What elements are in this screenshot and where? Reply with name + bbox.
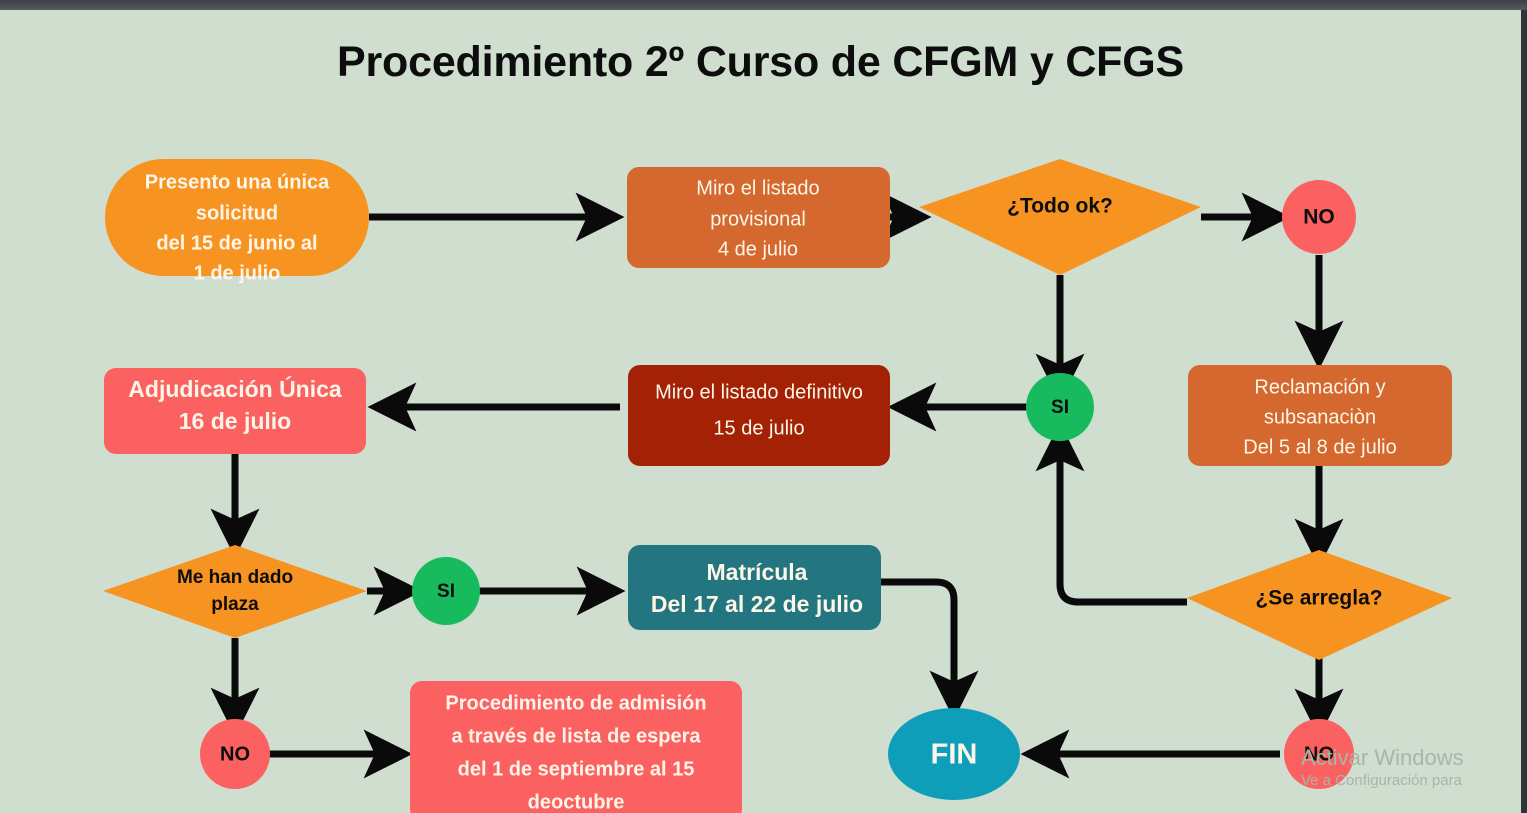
- node-fin[interactable]: FIN: [888, 708, 1020, 800]
- node-reclamacion-line3: Del 5 al 8 de julio: [1243, 436, 1396, 458]
- node-me-han-dado-plaza[interactable]: Me han dado plaza: [103, 545, 367, 638]
- node-adjudicacion[interactable]: Adjudicación Única 16 de julio: [104, 368, 366, 454]
- node-matricula-line2: Del 17 al 22 de julio: [651, 591, 863, 617]
- node-todo-ok[interactable]: ¿Todo ok?: [919, 159, 1201, 275]
- node-solicitud-line2: solicitud: [196, 202, 278, 224]
- slide-canvas: Procedimiento 2º Curso de CFGM y CFGS: [0, 10, 1521, 813]
- node-todo-ok-label: ¿Todo ok?: [1007, 195, 1113, 218]
- edge-se-arregla-to-si: [1060, 435, 1187, 602]
- node-solicitud-line1: Presento una única: [145, 171, 330, 193]
- node-solicitud-line3: del 15 de junio al: [156, 232, 317, 254]
- node-listado-provisional-line3: 4 de julio: [718, 238, 798, 260]
- node-lista-espera-line1: Procedimiento de admisión: [445, 692, 706, 714]
- node-no-plaza[interactable]: NO: [200, 719, 270, 789]
- node-me-han-dado-plaza-line2: plaza: [211, 594, 259, 615]
- node-adjudicacion-line1: Adjudicación Única: [128, 375, 342, 402]
- edge-matricula-to-fin: [881, 582, 954, 707]
- node-me-han-dado-plaza-line1: Me han dado: [177, 567, 293, 588]
- window-right-edge: [1521, 10, 1527, 813]
- node-listado-provisional-line2: provisional: [710, 208, 806, 230]
- node-se-arregla-label: ¿Se arregla?: [1255, 587, 1382, 610]
- window-top-bar: [0, 0, 1527, 10]
- node-si-plaza[interactable]: SI: [412, 557, 480, 625]
- node-matricula-line1: Matrícula: [707, 559, 808, 585]
- node-listado-provisional-line1: Miro el listado: [696, 177, 819, 199]
- node-solicitud[interactable]: Presento una única solicitud del 15 de j…: [105, 159, 369, 284]
- node-reclamacion-line2: subsanaciòn: [1264, 406, 1376, 428]
- node-no-plaza-label: NO: [220, 743, 250, 765]
- node-reclamacion-line1: Reclamación y: [1254, 376, 1385, 398]
- node-lista-espera[interactable]: Procedimiento de admisión a través de li…: [410, 681, 742, 813]
- node-no-todo-ok-label: NO: [1303, 206, 1335, 229]
- node-si-plaza-label: SI: [437, 581, 455, 602]
- node-si-centro[interactable]: SI: [1026, 373, 1094, 441]
- flowchart-svg: Presento una única solicitud del 15 de j…: [0, 10, 1521, 813]
- node-lista-espera-line4: deoctubre: [528, 791, 625, 813]
- node-listado-definitivo[interactable]: Miro el listado definitivo 15 de julio: [628, 365, 890, 466]
- node-lista-espera-line2: a través de lista de espera: [451, 725, 701, 747]
- node-no-se-arregla-label: NO: [1304, 743, 1334, 765]
- node-no-todo-ok[interactable]: NO: [1282, 180, 1356, 254]
- node-matricula[interactable]: Matrícula Del 17 al 22 de julio: [628, 545, 881, 630]
- node-listado-definitivo-line2: 15 de julio: [713, 417, 804, 439]
- presentation-window: Procedimiento 2º Curso de CFGM y CFGS: [0, 0, 1527, 813]
- node-adjudicacion-line2: 16 de julio: [179, 408, 291, 434]
- flow-edges: [235, 217, 1319, 754]
- node-listado-definitivo-line1: Miro el listado definitivo: [655, 381, 863, 403]
- node-fin-label: FIN: [931, 739, 978, 771]
- node-lista-espera-line3: del 1 de septiembre al 15: [458, 758, 695, 780]
- node-listado-provisional[interactable]: Miro el listado provisional 4 de julio: [627, 167, 890, 268]
- node-se-arregla[interactable]: ¿Se arregla?: [1187, 550, 1452, 660]
- node-reclamacion[interactable]: Reclamación y subsanaciòn Del 5 al 8 de …: [1188, 365, 1452, 466]
- node-solicitud-line4: 1 de julio: [194, 262, 281, 284]
- node-no-se-arregla[interactable]: NO: [1284, 719, 1354, 789]
- node-si-centro-label: SI: [1051, 397, 1069, 418]
